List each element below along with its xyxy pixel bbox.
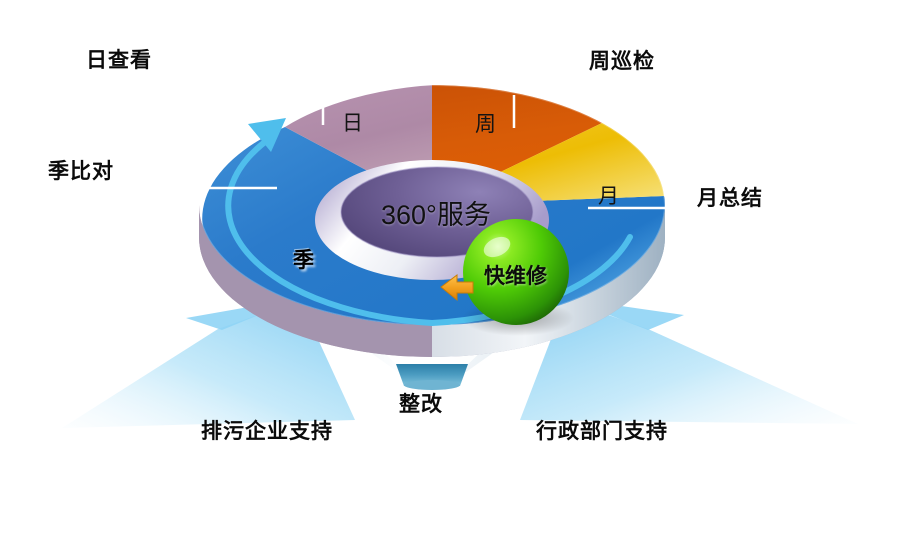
caption-day-view: 日查看 (86, 44, 152, 74)
caption-admin-support: 行政部门支持 (536, 415, 668, 445)
caption-polluter-support: 排污企业支持 (201, 415, 333, 445)
segment-label-month: 月 (598, 180, 619, 210)
caption-week-inspection: 周巡检 (589, 45, 655, 75)
segment-label-week: 周 (475, 108, 496, 138)
sphere-label: 快维修 (484, 260, 547, 290)
caption-quarter-compare: 季比对 (48, 155, 114, 185)
segment-label-day: 日 (342, 107, 363, 137)
diagram-canvas: 日查看 周巡检 季比对 月总结 排污企业支持 整改 行政部门支持 日 周 月 季… (0, 0, 924, 539)
diagram-artwork (0, 0, 924, 539)
caption-rectification: 整改 (399, 388, 443, 418)
caption-month-summary: 月总结 (697, 182, 763, 212)
segment-label-quarter: 季 (293, 244, 314, 274)
hub-label: 360°服务 (381, 193, 491, 232)
